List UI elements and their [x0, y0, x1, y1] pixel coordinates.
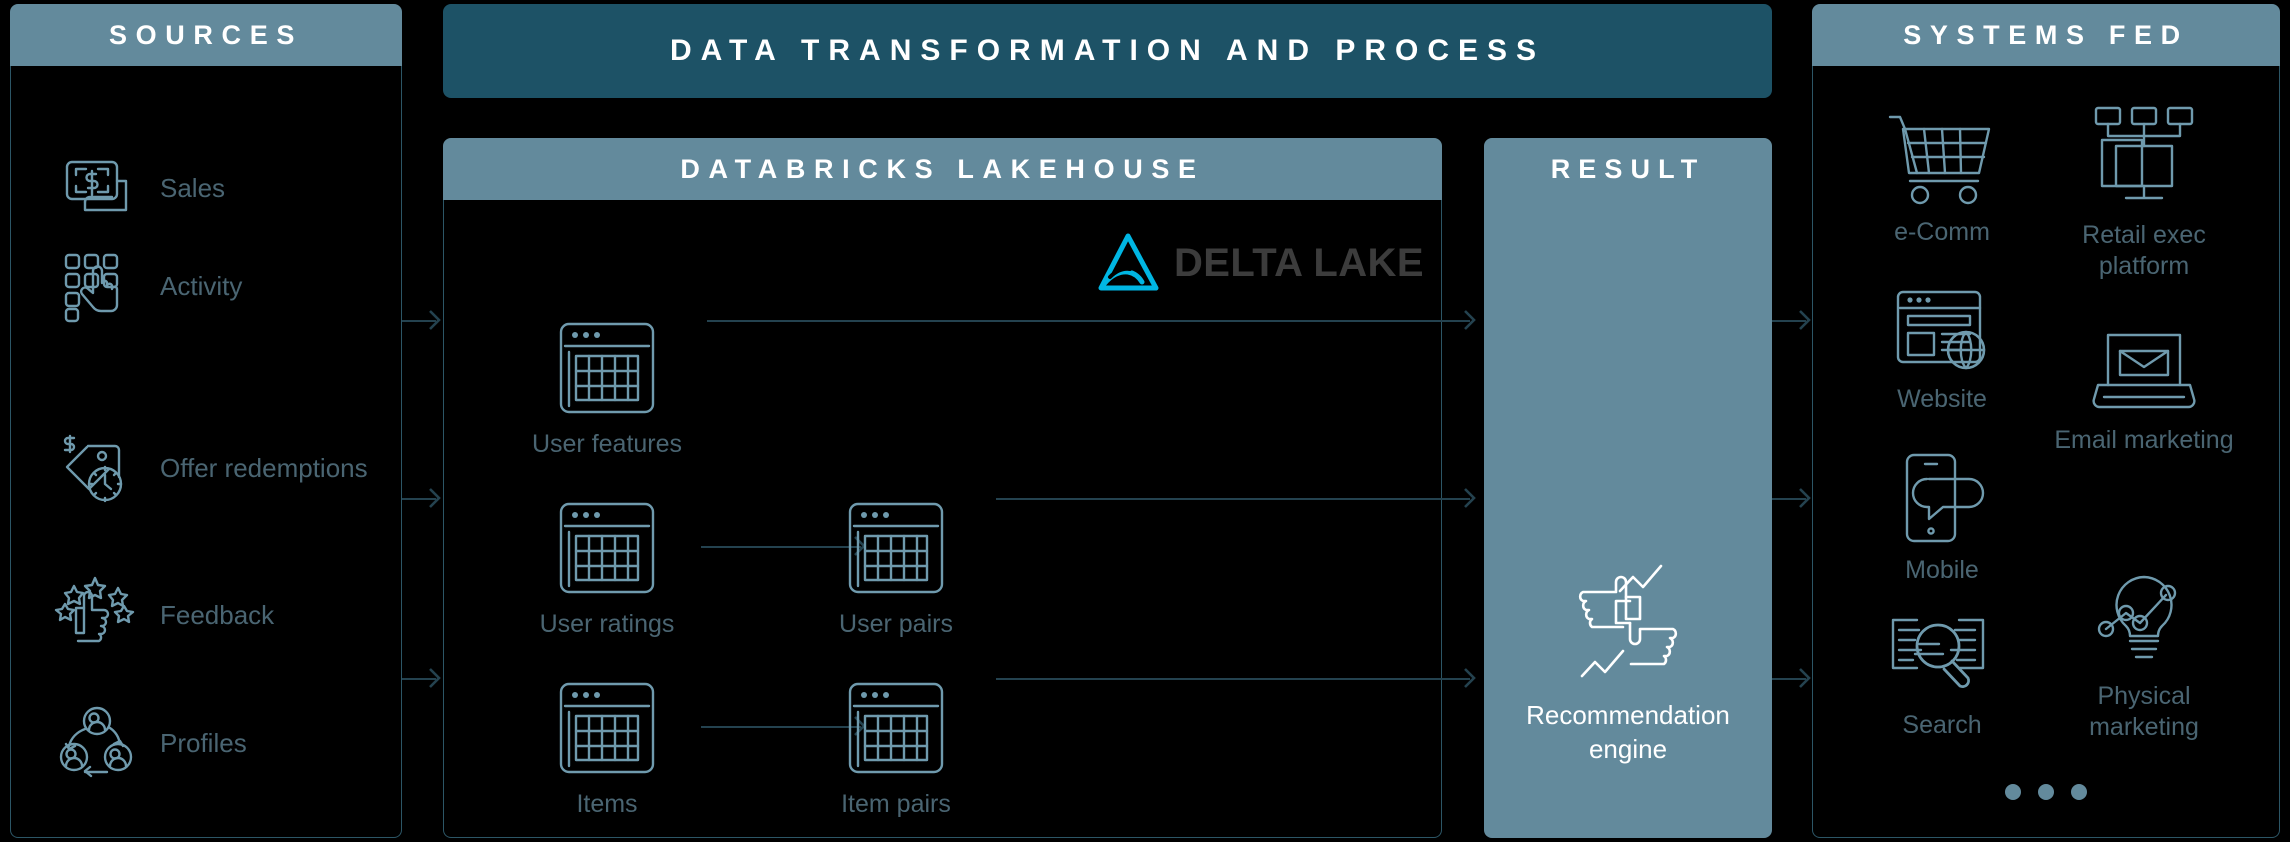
source-item-profiles[interactable]: Profiles [58, 704, 388, 782]
mobile-chat-icon [1842, 451, 2042, 547]
delta-lake-icon [1098, 234, 1160, 292]
table-icon [517, 318, 697, 418]
system-label: Email marketing [2044, 425, 2244, 456]
node-label: User features [517, 430, 697, 459]
table-icon [517, 678, 697, 778]
source-item-feedback[interactable]: Feedback [58, 576, 388, 654]
system-item-search[interactable]: Search [1842, 614, 2042, 741]
node-label: Item pairs [806, 790, 986, 819]
user-cycle-icon [58, 704, 136, 782]
table-icon [517, 498, 697, 598]
system-label: Website [1842, 384, 2042, 415]
lakehouse-node-user-ratings[interactable]: User ratings [517, 498, 697, 639]
source-label: Profiles [160, 727, 247, 760]
node-label: User pairs [806, 610, 986, 639]
delta-lake-logo: DELTA LAKE [1098, 234, 1424, 292]
rail-item-pairs-to-result [996, 678, 1470, 680]
system-label: e-Comm [1842, 217, 2042, 248]
source-item-sales[interactable]: Sales [58, 149, 388, 227]
laptop-envelope-icon [2044, 329, 2244, 417]
arrow-into-result-2 [1463, 487, 1481, 509]
sources-title: SOURCES [10, 4, 402, 66]
org-screens-icon [2044, 104, 2244, 212]
data-transformation-banner: DATA TRANSFORMATION AND PROCESS [443, 4, 1772, 98]
thumbs-trend-icon [1484, 553, 1772, 685]
table-icon [806, 498, 986, 598]
sources-panel: SOURCES Sales [10, 4, 402, 838]
system-item-ecomm[interactable]: e-Comm [1842, 109, 2042, 248]
node-label: User ratings [517, 610, 697, 639]
source-item-offer-redemptions[interactable]: Offer redemptions [58, 429, 388, 507]
source-label: Activity [160, 270, 242, 303]
banknote-icon [58, 149, 136, 227]
system-label: Retail exec platform [2044, 220, 2244, 281]
source-item-activity[interactable]: Activity [58, 247, 388, 325]
system-item-mobile[interactable]: Mobile [1842, 451, 2042, 586]
arrow-into-result-3 [1463, 667, 1481, 689]
magnifier-doc-icon [1842, 614, 2042, 702]
system-item-website[interactable]: Website [1842, 286, 2042, 415]
systems-fed-panel: SYSTEMS FED e-Comm [1812, 4, 2280, 838]
node-label: Items [517, 790, 697, 819]
source-label: Sales [160, 172, 225, 205]
source-label: Feedback [160, 599, 274, 632]
arrow-into-result-1 [1463, 309, 1481, 331]
result-node-recommendation-engine[interactable]: Recommendation engine [1484, 553, 1772, 767]
price-tag-clock-icon [58, 429, 136, 507]
lakehouse-title: DATABRICKS LAKEHOUSE [443, 138, 1442, 200]
system-label: Mobile [1842, 555, 2042, 586]
table-icon [806, 678, 986, 778]
lakehouse-node-items[interactable]: Items [517, 678, 697, 819]
systems-fed-title: SYSTEMS FED [1812, 4, 2280, 66]
lakehouse-panel: DATABRICKS LAKEHOUSE DELTA LAKE U [443, 138, 1442, 838]
lakehouse-node-user-pairs[interactable]: User pairs [806, 498, 986, 639]
tap-grid-icon [58, 247, 136, 325]
lakehouse-node-user-features[interactable]: User features [517, 318, 697, 459]
rail-user-pairs-to-result [996, 498, 1470, 500]
system-item-email-marketing[interactable]: Email marketing [2044, 329, 2244, 456]
system-item-retail-exec-platform[interactable]: Retail exec platform [2044, 104, 2244, 281]
ellipsis-dots-icon [1812, 784, 2280, 800]
system-label: Search [1842, 710, 2042, 741]
thumbs-up-stars-icon [58, 576, 136, 654]
result-panel: RESULT Recommendation engine [1484, 138, 1772, 838]
result-title: RESULT [1484, 138, 1772, 200]
lakehouse-node-item-pairs[interactable]: Item pairs [806, 678, 986, 819]
shopping-cart-icon [1842, 109, 2042, 209]
rail-user-features-to-result [707, 320, 1470, 322]
lightbulb-graph-icon [2044, 569, 2244, 673]
source-label: Offer redemptions [160, 452, 368, 485]
system-item-physical-marketing[interactable]: Physical marketing [2044, 569, 2244, 742]
browser-globe-icon [1842, 286, 2042, 376]
system-label: Physical marketing [2044, 681, 2244, 742]
delta-lake-wordmark: DELTA LAKE [1174, 241, 1424, 286]
result-node-label: Recommendation engine [1484, 699, 1772, 767]
